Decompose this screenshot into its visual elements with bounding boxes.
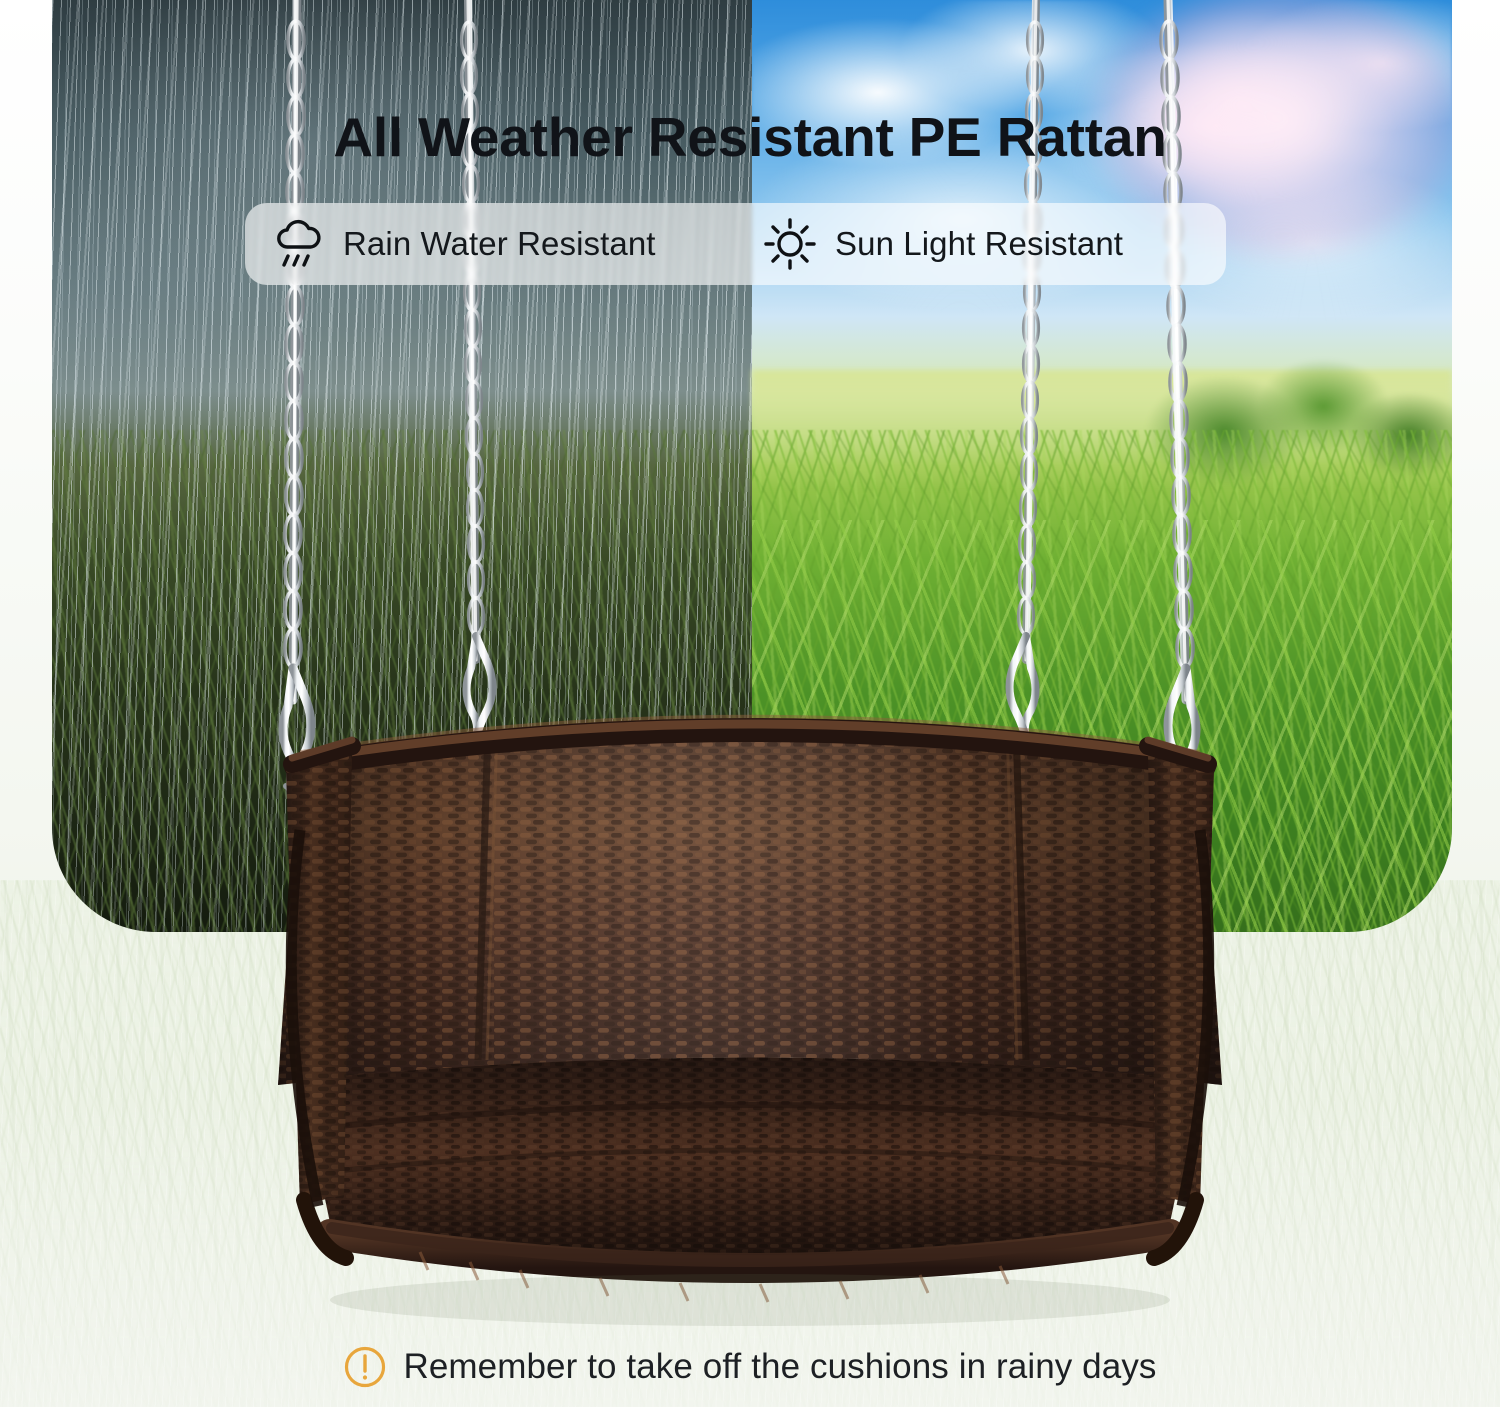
feature-sun-label: Sun Light Resistant bbox=[835, 225, 1123, 263]
footer-note: Remember to take off the cushions in rai… bbox=[0, 1337, 1500, 1397]
warning-exclamation-icon bbox=[343, 1345, 387, 1389]
feature-badge-bar: Rain Water Resistant Sun Light Resistant bbox=[245, 203, 1226, 285]
sunny-grass-blades bbox=[752, 520, 1452, 932]
sun-icon bbox=[763, 217, 817, 271]
feature-rain-water-resistant: Rain Water Resistant bbox=[245, 203, 753, 285]
rainy-grass bbox=[52, 430, 752, 932]
page-title: All Weather Resistant PE Rattan bbox=[0, 108, 1500, 166]
backdrop-rain-veil bbox=[0, 880, 1500, 1407]
feature-sun-light-resistant: Sun Light Resistant bbox=[753, 203, 1123, 285]
rain-cloud-icon bbox=[273, 217, 325, 271]
feature-rain-label: Rain Water Resistant bbox=[343, 225, 656, 263]
footer-note-text: Remember to take off the cushions in rai… bbox=[403, 1347, 1156, 1387]
banner-canvas: All Weather Resistant PE Rattan Rain Wat… bbox=[0, 0, 1500, 1407]
